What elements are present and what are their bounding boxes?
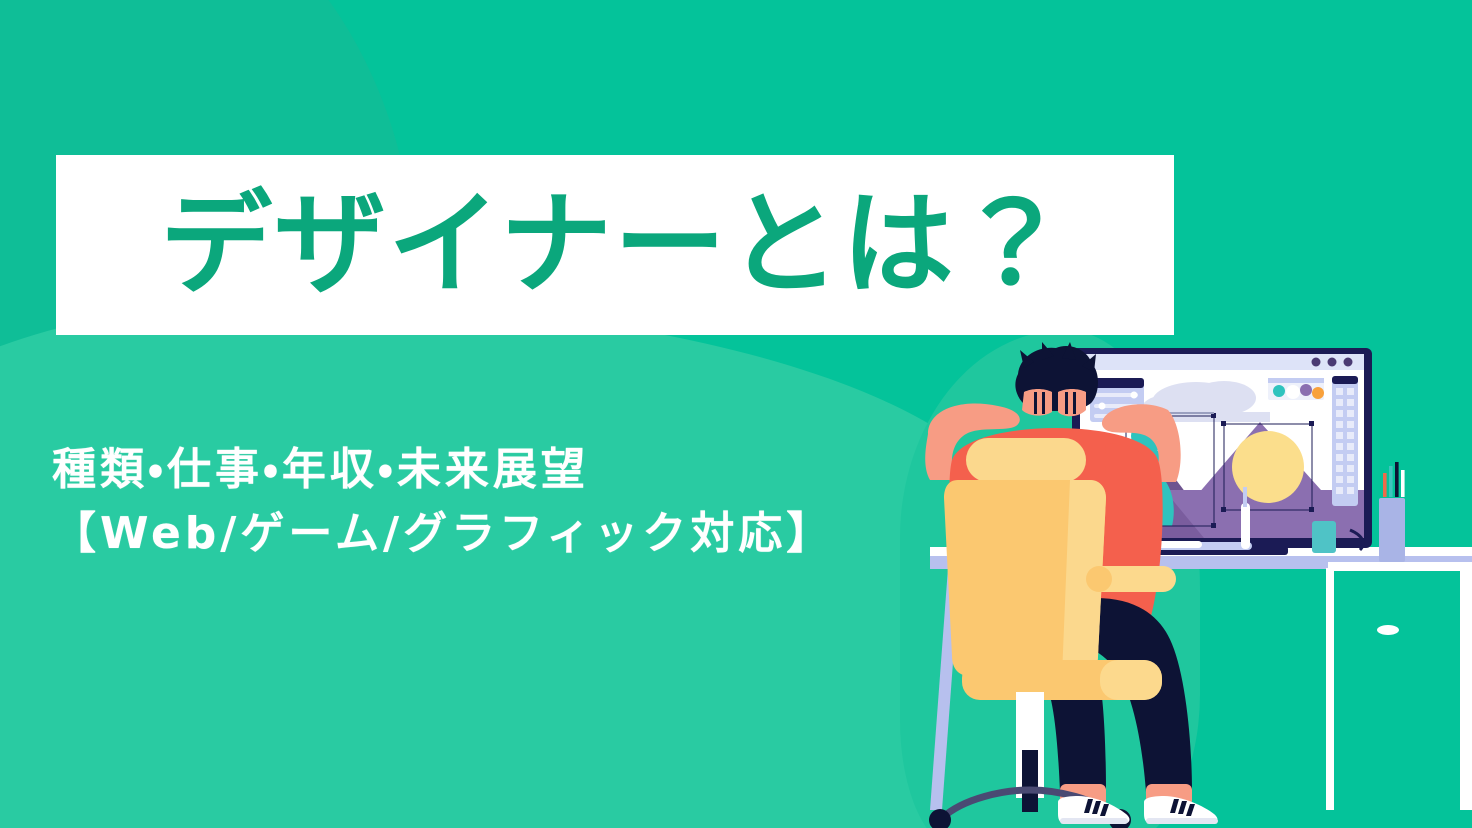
window-controls (1312, 358, 1353, 367)
subtitle-block: 種類・仕事・年収・未来展望 【Web/ゲーム/グラフィック対応】 (52, 438, 834, 566)
designer-at-desk-illustration (920, 340, 1472, 828)
subtitle-line-2: 【Web/ゲーム/グラフィック対応】 (52, 502, 834, 566)
right-asset-panel (1332, 376, 1358, 506)
pen-holder (1379, 462, 1405, 562)
sneakers (1058, 796, 1218, 824)
subtitle-line-1: 種類・仕事・年収・未来展望 (52, 438, 834, 502)
color-swatches (1268, 378, 1324, 400)
banner-canvas: デザイナーとは？ 種類・仕事・年収・未来展望 【Web/ゲーム/グラフィック対応… (0, 0, 1472, 828)
mug (1312, 521, 1336, 553)
page-title: デザイナーとは？ (56, 155, 1174, 335)
